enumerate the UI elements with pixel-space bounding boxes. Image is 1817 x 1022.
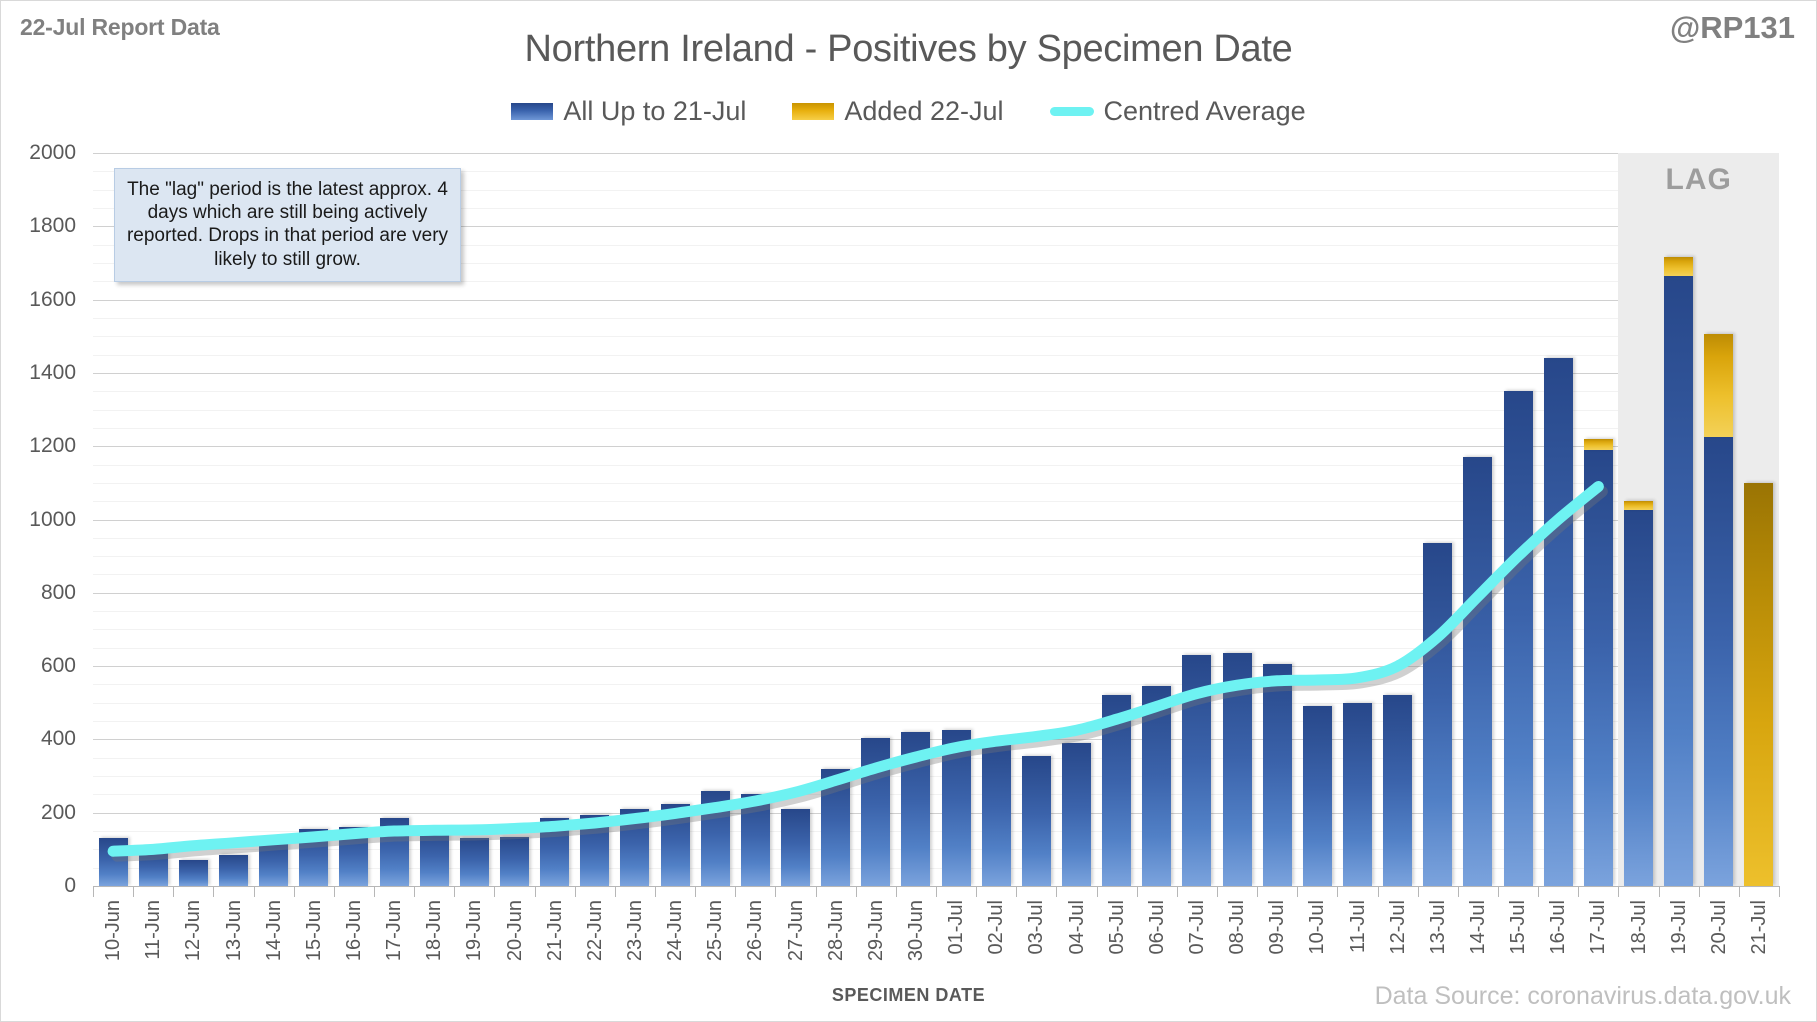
x-axis-tick-label: 12-Jun — [182, 900, 205, 961]
bar-segment-all-up-to[interactable] — [219, 855, 248, 886]
bar-segment-all-up-to[interactable] — [1704, 437, 1733, 886]
bar-segment-all-up-to[interactable] — [380, 818, 409, 886]
bar-segment-all-up-to[interactable] — [1102, 695, 1131, 886]
x-axis-tick — [615, 886, 616, 897]
x-axis-tick-label: 14-Jun — [263, 900, 286, 961]
legend-label: All Up to 21-Jul — [563, 96, 746, 127]
x-axis-tick — [1337, 886, 1338, 897]
bar-segment-all-up-to[interactable] — [701, 791, 730, 886]
bar-segment-all-up-to[interactable] — [1223, 653, 1252, 886]
bar-segment-added[interactable] — [1584, 439, 1613, 450]
x-axis-tick — [1538, 886, 1539, 897]
x-axis-tick-label: 15-Jun — [303, 900, 326, 961]
x-axis-tick-label: 21-Jun — [544, 900, 567, 961]
x-axis-tick-label: 10-Jul — [1306, 900, 1329, 954]
bar-group[interactable] — [1343, 153, 1372, 886]
bar-group[interactable] — [580, 153, 609, 886]
x-axis-tick — [1659, 886, 1660, 897]
x-axis-tick-label: 12-Jul — [1387, 900, 1410, 954]
x-axis-tick — [1378, 886, 1379, 897]
bar-segment-all-up-to[interactable] — [1584, 450, 1613, 886]
x-axis-tick — [133, 886, 134, 897]
x-axis-tick — [1699, 886, 1700, 897]
chart-title: Northern Ireland - Positives by Specimen… — [0, 28, 1817, 71]
x-axis-tick-label: 16-Jul — [1547, 900, 1570, 954]
gold-bar-swatch-icon — [792, 103, 834, 120]
bar-group[interactable] — [1142, 153, 1171, 886]
bar-segment-all-up-to[interactable] — [1343, 703, 1372, 886]
bar-group[interactable] — [460, 153, 489, 886]
x-axis-tick-label: 18-Jul — [1628, 900, 1651, 954]
x-axis-tick-label: 03-Jul — [1025, 900, 1048, 954]
bar-segment-all-up-to[interactable] — [661, 804, 690, 886]
x-axis-tick — [173, 886, 174, 897]
bar-group[interactable] — [661, 153, 690, 886]
bar-segment-added[interactable] — [1664, 257, 1693, 275]
x-axis-tick — [735, 886, 736, 897]
x-axis-tick — [1498, 886, 1499, 897]
y-axis-tick-label: 0 — [64, 874, 76, 898]
bar-group[interactable] — [500, 153, 529, 886]
x-axis-tick — [1578, 886, 1579, 897]
x-axis-tick — [414, 886, 415, 897]
x-axis-tick-label: 30-Jun — [905, 900, 928, 961]
bar-group[interactable] — [861, 153, 890, 886]
x-axis-tick — [334, 886, 335, 897]
x-axis-tick — [856, 886, 857, 897]
x-axis-tick — [454, 886, 455, 897]
bar-segment-all-up-to[interactable] — [1263, 664, 1292, 886]
bar-segment-all-up-to[interactable] — [99, 838, 128, 886]
blue-bar-swatch-icon — [511, 103, 553, 120]
bar-segment-added[interactable] — [1624, 501, 1653, 510]
x-axis-tick-label: 10-Jun — [102, 900, 125, 961]
bar-segment-all-up-to[interactable] — [861, 738, 890, 886]
x-axis-tick-label: 24-Jun — [664, 900, 687, 961]
x-axis-tick-label: 15-Jul — [1507, 900, 1530, 954]
bar-segment-all-up-to[interactable] — [781, 809, 810, 886]
x-axis-tick-label: 05-Jul — [1106, 900, 1129, 954]
x-axis-tick-label: 14-Jul — [1467, 900, 1490, 954]
bar-segment-all-up-to[interactable] — [1423, 543, 1452, 886]
x-axis-tick — [1137, 886, 1138, 897]
y-axis-tick-label: 800 — [41, 581, 76, 605]
x-axis-tick — [213, 886, 214, 897]
x-axis-tick-label: 17-Jun — [383, 900, 406, 961]
x-axis-tick-label: 26-Jun — [744, 900, 767, 961]
bar-group[interactable] — [901, 153, 930, 886]
bar-group[interactable] — [1223, 153, 1252, 886]
x-axis-tick-label: 16-Jun — [343, 900, 366, 961]
bar-segment-all-up-to[interactable] — [460, 838, 489, 886]
x-axis-tick-label: 07-Jul — [1186, 900, 1209, 954]
x-axis-tick — [494, 886, 495, 897]
x-axis-tick — [936, 886, 937, 897]
x-axis-tick — [294, 886, 295, 897]
bar-group[interactable] — [1022, 153, 1051, 886]
bar-segment-all-up-to[interactable] — [1664, 276, 1693, 886]
y-axis-tick-label: 200 — [41, 801, 76, 825]
x-axis-tick-label: 19-Jul — [1668, 900, 1691, 954]
bar-segment-all-up-to[interactable] — [620, 809, 649, 886]
x-axis-tick-label: 09-Jul — [1266, 900, 1289, 954]
cyan-line-swatch-icon — [1050, 107, 1094, 116]
bar-group[interactable] — [1504, 153, 1533, 886]
x-axis-tick — [1458, 886, 1459, 897]
y-axis-tick-label: 1000 — [29, 508, 76, 532]
x-axis-tick-label: 29-Jun — [865, 900, 888, 961]
legend-item-all-up-to[interactable]: All Up to 21-Jul — [511, 96, 746, 127]
x-axis-tick — [535, 886, 536, 897]
x-axis-tick — [1418, 886, 1419, 897]
bar-segment-all-up-to[interactable] — [1062, 743, 1091, 886]
x-axis-tick — [254, 886, 255, 897]
bar-segment-all-up-to[interactable] — [500, 837, 529, 886]
x-axis-tick — [655, 886, 656, 897]
x-axis-tick — [1177, 886, 1178, 897]
y-axis-labels: 0200400600800100012001400160018002000 — [0, 153, 88, 886]
bar-group[interactable] — [1744, 153, 1773, 886]
x-axis-tick-label: 20-Jun — [504, 900, 527, 961]
x-axis-tick — [1618, 886, 1619, 897]
bar-group[interactable] — [620, 153, 649, 886]
bar-segment-all-up-to[interactable] — [1182, 655, 1211, 886]
bar-group[interactable] — [1423, 153, 1452, 886]
legend-label: Centred Average — [1104, 96, 1306, 127]
bar-segment-all-up-to[interactable] — [1383, 695, 1412, 886]
x-axis-tick-label: 19-Jun — [463, 900, 486, 961]
bar-group[interactable] — [1303, 153, 1332, 886]
y-axis-tick-label: 400 — [41, 727, 76, 751]
x-axis-tick-label: 11-Jul — [1347, 900, 1370, 953]
bar-segment-all-up-to[interactable] — [299, 829, 328, 886]
x-axis-tick-label: 20-Jul — [1708, 900, 1731, 954]
data-source-footer: Data Source: coronavirus.data.gov.uk — [1375, 982, 1791, 1011]
x-axis-tick — [695, 886, 696, 897]
bar-group[interactable] — [1182, 153, 1211, 886]
x-axis-tick-label: 27-Jun — [785, 900, 808, 961]
bar-segment-all-up-to[interactable] — [821, 769, 850, 886]
y-axis-tick-label: 1200 — [29, 434, 76, 458]
chart-legend: All Up to 21-Jul Added 22-Jul Centred Av… — [0, 96, 1817, 127]
bar-segment-all-up-to[interactable] — [1022, 756, 1051, 886]
bar-segment-all-up-to[interactable] — [179, 860, 208, 886]
bar-group[interactable] — [942, 153, 971, 886]
bar-segment-all-up-to[interactable] — [420, 831, 449, 886]
bar-group[interactable] — [1383, 153, 1412, 886]
x-axis-tick — [575, 886, 576, 897]
bar-group[interactable] — [1624, 153, 1653, 886]
x-axis-tick-label: 22-Jun — [584, 900, 607, 961]
x-axis-tick — [976, 886, 977, 897]
bar-group[interactable] — [1263, 153, 1292, 886]
bar-segment-all-up-to[interactable] — [339, 827, 368, 886]
y-axis-tick-label: 2000 — [29, 141, 76, 165]
bar-group[interactable] — [1544, 153, 1573, 886]
legend-item-added[interactable]: Added 22-Jul — [792, 96, 1003, 127]
legend-label: Added 22-Jul — [844, 96, 1003, 127]
x-axis-tick-label: 18-Jun — [423, 900, 446, 961]
bar-group[interactable] — [1102, 153, 1131, 886]
y-axis-tick-label: 1600 — [29, 288, 76, 312]
bar-segment-all-up-to[interactable] — [1544, 358, 1573, 886]
y-axis-tick-label: 1400 — [29, 361, 76, 385]
bar-segment-all-up-to[interactable] — [901, 732, 930, 886]
y-axis-tick-label: 600 — [41, 654, 76, 678]
x-axis-tick-label: 01-Jul — [945, 900, 968, 954]
x-axis-tick-label: 13-Jun — [223, 900, 246, 961]
x-axis-tick — [1016, 886, 1017, 897]
x-axis-tick — [1297, 886, 1298, 897]
bar-group[interactable] — [821, 153, 850, 886]
bar-segment-added[interactable] — [1744, 483, 1773, 886]
x-axis-tick — [775, 886, 776, 897]
x-axis-tick — [1056, 886, 1057, 897]
x-axis-tick — [816, 886, 817, 897]
bar-segment-all-up-to[interactable] — [1303, 706, 1332, 886]
bar-segment-all-up-to[interactable] — [259, 840, 288, 886]
x-axis-tick-label: 13-Jul — [1427, 900, 1450, 954]
bar-segment-all-up-to[interactable] — [1463, 457, 1492, 886]
x-axis-tick — [374, 886, 375, 897]
bar-group[interactable] — [781, 153, 810, 886]
bar-segment-all-up-to[interactable] — [540, 818, 569, 886]
bar-group[interactable] — [540, 153, 569, 886]
bar-segment-all-up-to[interactable] — [1504, 391, 1533, 886]
x-axis-tick-label: 08-Jul — [1226, 900, 1249, 954]
x-axis-tick — [1217, 886, 1218, 897]
x-axis-tick — [1097, 886, 1098, 897]
lag-label: LAG — [1618, 163, 1779, 197]
legend-item-centred-average[interactable]: Centred Average — [1050, 96, 1306, 127]
bar-group[interactable] — [1062, 153, 1091, 886]
x-axis-tick-label: 06-Jul — [1146, 900, 1169, 954]
bar-segment-all-up-to[interactable] — [1624, 510, 1653, 886]
bar-segment-all-up-to[interactable] — [580, 815, 609, 886]
bar-group[interactable] — [1463, 153, 1492, 886]
y-axis-tick-label: 1800 — [29, 214, 76, 238]
x-axis-tick-label: 23-Jun — [624, 900, 647, 961]
x-axis-tick — [1739, 886, 1740, 897]
x-axis-tick — [93, 886, 94, 897]
x-axis-tick — [1779, 886, 1780, 897]
bar-segment-all-up-to[interactable] — [942, 730, 971, 886]
x-axis-tick-label: 04-Jul — [1066, 900, 1089, 954]
bar-segment-all-up-to[interactable] — [741, 794, 770, 886]
lag-explanation-annotation: The "lag" period is the latest approx. 4… — [114, 168, 461, 282]
bar-group[interactable] — [982, 153, 1011, 886]
x-axis-tick-label: 25-Jun — [704, 900, 727, 961]
bar-segment-all-up-to[interactable] — [139, 851, 168, 886]
bar-segment-all-up-to[interactable] — [982, 741, 1011, 886]
x-axis-tick-label: 02-Jul — [985, 900, 1008, 954]
bar-group[interactable] — [1584, 153, 1613, 886]
bar-group[interactable] — [701, 153, 730, 886]
bar-group[interactable] — [741, 153, 770, 886]
x-axis-tick-label: 28-Jun — [825, 900, 848, 961]
bar-segment-added[interactable] — [1704, 334, 1733, 437]
x-axis-tick-label: 17-Jul — [1587, 900, 1610, 954]
bar-segment-all-up-to[interactable] — [1142, 686, 1171, 886]
x-axis-tick — [1257, 886, 1258, 897]
x-axis-tick-label: 11-Jun — [142, 900, 165, 960]
x-axis-tick — [896, 886, 897, 897]
x-axis-tick-label: 21-Jul — [1748, 900, 1771, 954]
bar-group[interactable] — [1704, 153, 1733, 886]
bar-group[interactable] — [1664, 153, 1693, 886]
